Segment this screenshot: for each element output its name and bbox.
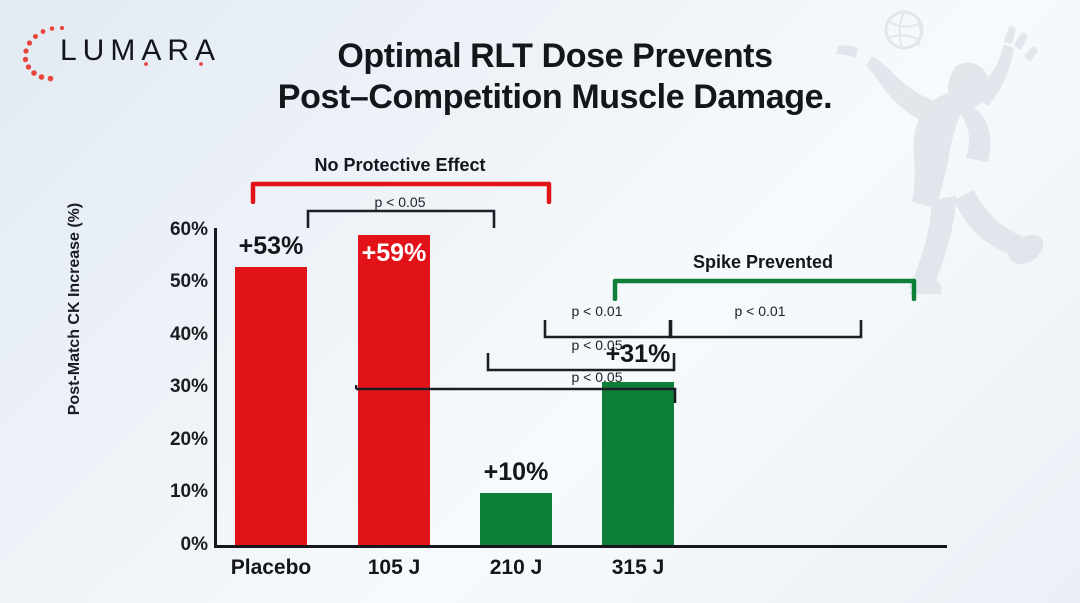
x-label-315j: 315 J — [612, 556, 665, 580]
bar-210j[interactable] — [480, 493, 552, 546]
y-tick-50: 50% — [148, 271, 208, 293]
y-tick-30: 30% — [148, 376, 208, 398]
y-tick-60: 60% — [148, 219, 208, 241]
y-axis-title: Post-Match CK Increase (%) — [66, 159, 84, 459]
y-axis-ticks: 60% 50% 40% 30% 20% 10% 0% — [148, 0, 208, 603]
group-label-no-protective-effect: No Protective Effect — [314, 155, 485, 176]
bar-value-placebo: +53% — [239, 232, 304, 261]
group-label-spike-prevented: Spike Prevented — [693, 252, 833, 273]
infographic-canvas: LUMARA Optimal RLT Dose Prevents Post–Co… — [0, 0, 1080, 603]
p-label-210j-315j: p < 0.01 — [735, 303, 786, 319]
y-tick-0: 0% — [148, 534, 208, 556]
p-label-105j-210j: p < 0.01 — [572, 303, 623, 319]
bar-value-210j: +10% — [484, 458, 549, 487]
x-label-105j: 105 J — [368, 556, 421, 580]
bracket-placebo-315j — [355, 383, 677, 405]
y-tick-10: 10% — [148, 481, 208, 503]
x-label-placebo: Placebo — [231, 556, 312, 580]
x-label-210j: 210 J — [490, 556, 543, 580]
bracket-placebo-105j — [306, 208, 496, 230]
bar-value-105j: +59% — [362, 239, 427, 268]
y-tick-40: 40% — [148, 324, 208, 346]
y-tick-20: 20% — [148, 429, 208, 451]
bracket-210j-315j — [668, 318, 863, 340]
x-axis-line — [214, 545, 947, 548]
bar-315j[interactable] — [602, 382, 674, 545]
bracket-spike-prevented — [612, 275, 917, 301]
bar-chart: Post-Match CK Increase (%) 60% 50% 40% 3… — [0, 0, 1080, 603]
bar-placebo[interactable] — [235, 267, 307, 545]
